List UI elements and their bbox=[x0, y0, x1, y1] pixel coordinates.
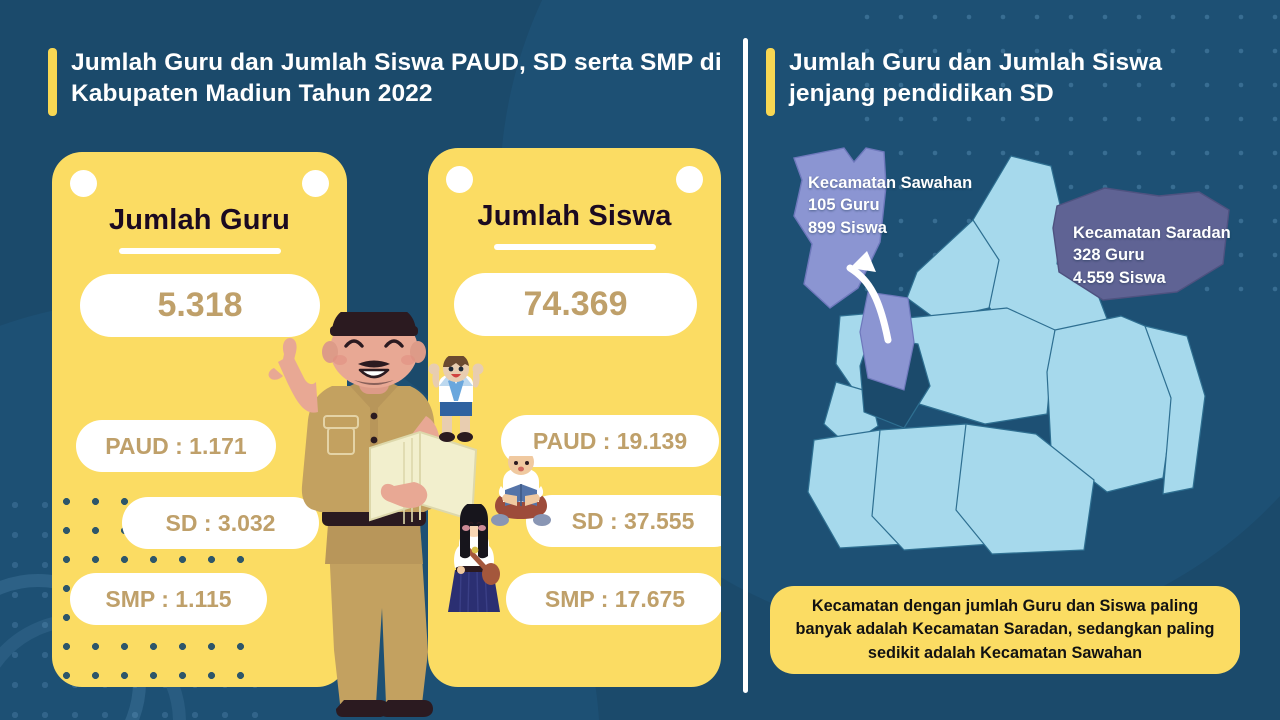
stat-card-guru-item-paud: PAUD : 1.171 bbox=[76, 420, 276, 472]
card-nail-right-icon bbox=[302, 170, 329, 197]
student-smp-illustration bbox=[441, 504, 507, 616]
infographic-canvas: Jumlah Guru dan Jumlah Siswa PAUD, SD se… bbox=[0, 0, 1280, 720]
map-label-sawahan: Kecamatan Sawahan 105 Guru 899 Siswa bbox=[808, 172, 972, 239]
map-label-saradan: Kecamatan Saradan 328 Guru 4.559 Siswa bbox=[1073, 222, 1231, 289]
card-nail-left-icon bbox=[70, 170, 97, 197]
vertical-divider bbox=[743, 38, 748, 693]
stat-card-siswa-total: 74.369 bbox=[454, 273, 697, 336]
right-panel-title: Jumlah Guru dan Jumlah Siswa jenjang pen… bbox=[766, 48, 1236, 116]
map-label-sawahan-name: Kecamatan Sawahan bbox=[808, 172, 972, 194]
map-label-saradan-siswa: 4.559 Siswa bbox=[1073, 267, 1231, 289]
stat-card-siswa-item-smp: SMP : 17.675 bbox=[506, 573, 721, 625]
title-accent-bar bbox=[48, 48, 57, 116]
card-nail-right-icon bbox=[676, 166, 703, 193]
card-heading-rule bbox=[494, 244, 656, 250]
map-label-saradan-name: Kecamatan Saradan bbox=[1073, 222, 1231, 244]
title-accent-bar bbox=[766, 48, 775, 116]
card-nail-left-icon bbox=[446, 166, 473, 193]
map-label-sawahan-guru: 105 Guru bbox=[808, 194, 972, 216]
left-panel-title-text: Jumlah Guru dan Jumlah Siswa PAUD, SD se… bbox=[71, 48, 728, 110]
stat-card-guru-item-smp: SMP : 1.115 bbox=[70, 573, 267, 625]
left-panel-title: Jumlah Guru dan Jumlah Siswa PAUD, SD se… bbox=[48, 48, 728, 116]
summary-note: Kecamatan dengan jumlah Guru dan Siswa p… bbox=[770, 586, 1240, 674]
map-label-saradan-guru: 328 Guru bbox=[1073, 244, 1231, 266]
map-label-sawahan-siswa: 899 Siswa bbox=[808, 217, 972, 239]
stat-card-guru-heading: Jumlah Guru bbox=[52, 204, 347, 237]
card-heading-rule bbox=[119, 248, 281, 254]
stat-card-siswa-heading: Jumlah Siswa bbox=[428, 200, 721, 233]
right-panel-title-text: Jumlah Guru dan Jumlah Siswa jenjang pen… bbox=[789, 48, 1236, 110]
student-paud-illustration bbox=[426, 356, 486, 444]
